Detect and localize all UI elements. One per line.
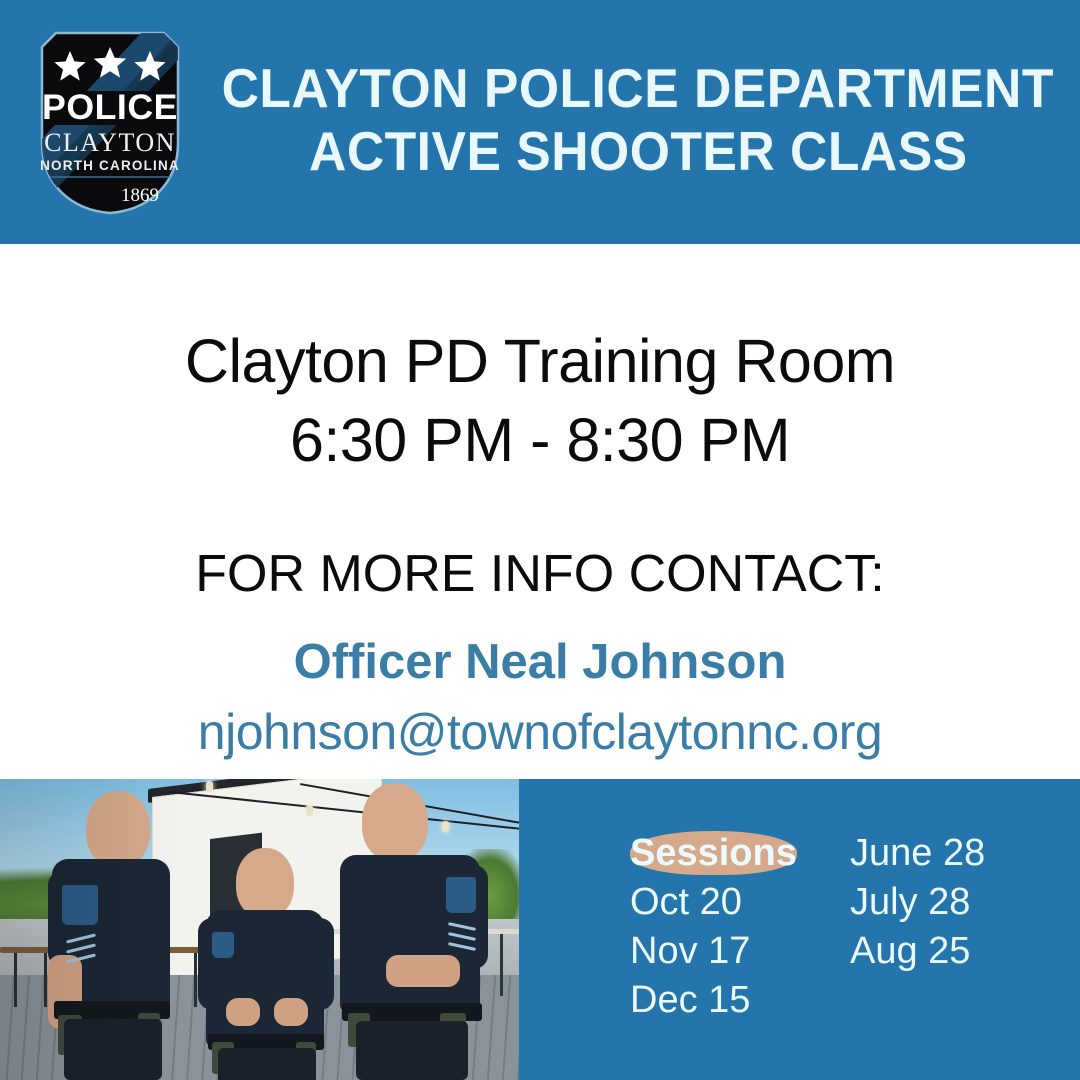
session-date-aug: Aug 25 xyxy=(850,929,985,973)
photo-string-light-bulb-1 xyxy=(206,781,213,792)
bottom-section: Sessions Sept 22 June 28 Oct 20 July 28 … xyxy=(0,779,1080,1080)
photo-officer-middle xyxy=(198,812,336,1080)
session-date-june: June 28 xyxy=(850,831,985,875)
badge-police-text: POLICE xyxy=(42,88,178,127)
session-date-july: July 28 xyxy=(850,880,985,924)
body-section: Clayton PD Training Room 6:30 PM - 8:30 … xyxy=(0,244,1080,779)
page-title-line-1: CLAYTON POLICE DEPARTMENT xyxy=(222,57,1054,120)
badge-clayton-text: CLAYTON xyxy=(44,128,176,157)
sessions-heading: Sessions xyxy=(630,831,797,875)
three-police-officers-on-deck-photo xyxy=(0,779,519,1080)
session-date-oct: Oct 20 xyxy=(630,880,850,924)
page-title-line-2: ACTIVE SHOOTER CLASS xyxy=(309,120,968,183)
badge-state-text: NORTH CAROLINA xyxy=(40,158,180,173)
photo-officer-left xyxy=(42,779,190,1080)
badge-year-text: 1869 xyxy=(121,185,159,206)
session-date-dec: Dec 15 xyxy=(630,978,850,1022)
header-title-group: CLAYTON POLICE DEPARTMENT ACTIVE SHOOTER… xyxy=(196,0,1080,244)
photo-officer-right xyxy=(336,779,496,1080)
sessions-panel: Sessions Sept 22 June 28 Oct 20 July 28 … xyxy=(519,779,1080,1080)
venue-location: Clayton PD Training Room xyxy=(0,322,1080,401)
contact-name: Officer Neal Johnson xyxy=(0,633,1080,692)
contact-email-link[interactable]: njohnson@townofclaytonnc.org xyxy=(0,702,1080,762)
contact-heading: FOR MORE INFO CONTACT: xyxy=(0,542,1080,607)
session-date-nov: Nov 17 xyxy=(630,929,850,973)
clayton-police-badge-icon: POLICE CLAYTON NORTH CAROLINA 1869 xyxy=(28,25,192,220)
contact-block: FOR MORE INFO CONTACT: Officer Neal John… xyxy=(0,542,1080,762)
header-banner: POLICE CLAYTON NORTH CAROLINA 1869 CLAYT… xyxy=(0,0,1080,244)
sessions-grid: Sessions Sept 22 June 28 Oct 20 July 28 … xyxy=(630,831,985,1027)
venue-block: Clayton PD Training Room 6:30 PM - 8:30 … xyxy=(0,322,1080,481)
flyer: POLICE CLAYTON NORTH CAROLINA 1869 CLAYT… xyxy=(0,0,1080,1080)
venue-time: 6:30 PM - 8:30 PM xyxy=(0,401,1080,480)
